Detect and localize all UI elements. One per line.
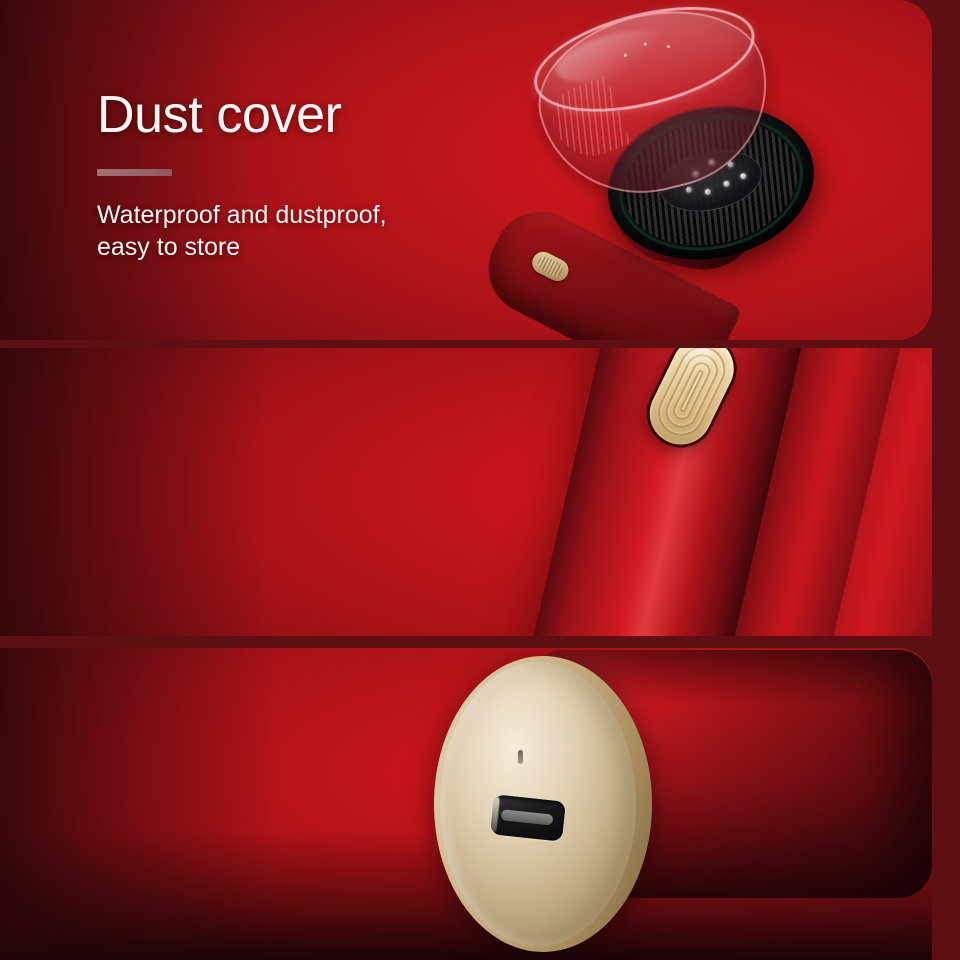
product-feature-banner: Dust cover Waterproof and dustproof, eas… [0,0,960,960]
panel-background [0,348,932,636]
feature-panel-dust-cover: Dust cover Waterproof and dustproof, eas… [0,0,932,340]
feature-panel-crv: crv (Long press for three seconds to sta… [0,348,932,636]
feature-title: Dust cover [97,88,387,143]
feature-text-dust-cover: Dust cover Waterproof and dustproof, eas… [97,88,387,263]
feature-description: Waterproof and dustproof, easy to store [97,200,387,263]
feature-panel-type-c: TYPE-C charging interface One line multi… [0,648,932,960]
panel-background [0,648,932,960]
title-divider [97,169,172,176]
